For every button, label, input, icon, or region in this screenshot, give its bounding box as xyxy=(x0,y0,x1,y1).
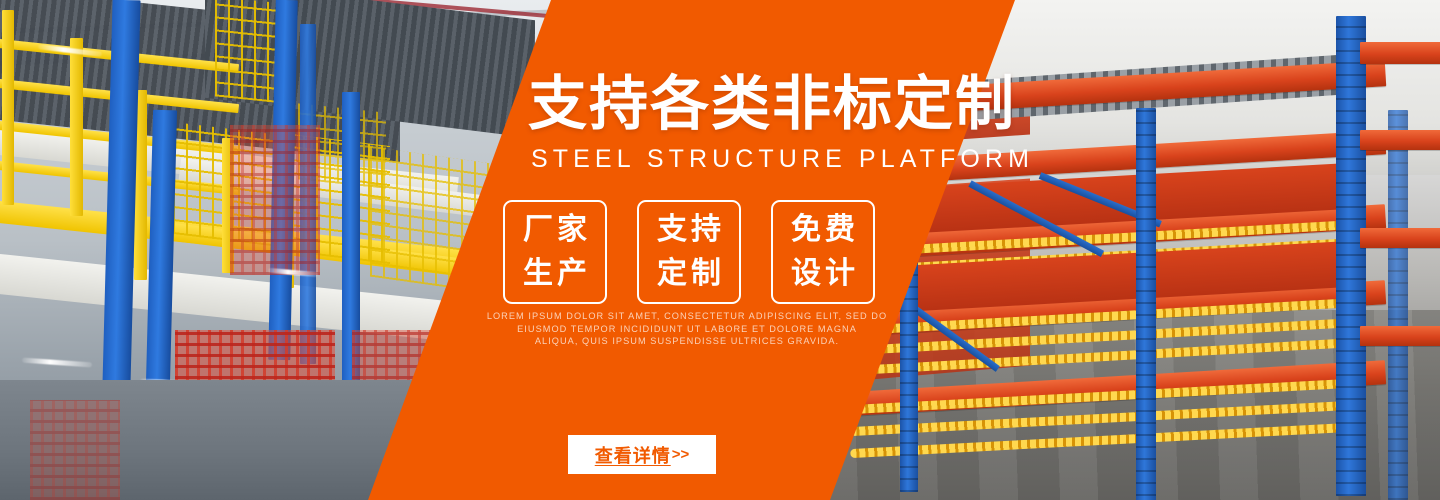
feature-badge-support-customization[interactable]: 支持 定制 xyxy=(637,200,741,304)
feature-badge-line2: 设计 xyxy=(787,252,859,296)
feature-badge-line2: 生产 xyxy=(519,252,591,296)
feature-badge-free-design[interactable]: 免费 设计 xyxy=(771,200,875,304)
feature-badge-line1: 免费 xyxy=(787,208,859,252)
promo-banner: 支持各类非标定制 STEEL STRUCTURE PLATFORM 厂家 生产 … xyxy=(0,0,1440,500)
feature-badge-line1: 支持 xyxy=(653,208,725,252)
view-details-button[interactable]: 查看详情 >> xyxy=(568,435,716,474)
feature-badge-factory-production[interactable]: 厂家 生产 xyxy=(503,200,607,304)
description-text: LOREM IPSUM DOLOR SIT AMET, CONSECTETUR … xyxy=(447,310,927,348)
description-line-1: LOREM IPSUM DOLOR SIT AMET, CONSECTETUR … xyxy=(447,310,927,323)
description-line-2: EIUSMOD TEMPOR INCIDIDUNT UT LABORE ET D… xyxy=(447,323,927,336)
banner-content: 支持各类非标定制 STEEL STRUCTURE PLATFORM 厂家 生产 … xyxy=(0,0,1440,500)
chevron-right-double-icon: >> xyxy=(672,446,690,463)
description-line-3: ALIQUA, QUIS IPSUM SUSPENDISSE ULTRICES … xyxy=(447,335,927,348)
page-subtitle: STEEL STRUCTURE PLATFORM xyxy=(531,145,1034,173)
view-details-label: 查看详情 xyxy=(595,442,671,468)
feature-badge-line2: 定制 xyxy=(653,252,725,296)
feature-badge-list: 厂家 生产 支持 定制 免费 设计 xyxy=(503,200,875,304)
page-title: 支持各类非标定制 xyxy=(528,72,1016,136)
feature-badge-line1: 厂家 xyxy=(519,208,591,252)
